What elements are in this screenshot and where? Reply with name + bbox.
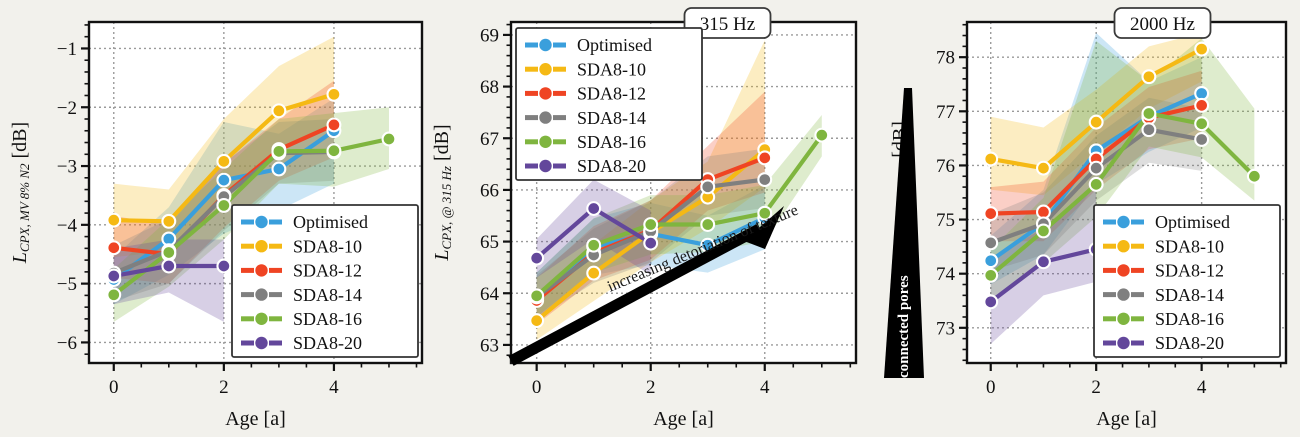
legend: OptimisedSDA8-10SDA8-12SDA8-14SDA8-16SDA… [1094,205,1280,357]
legend-label: SDA8-12 [293,261,362,281]
y-tick-label: 64 [480,284,500,305]
x-axis-label: Age [a] [653,408,714,430]
data-point-sda8-12 [328,118,341,131]
y-tick-label: 66 [480,180,499,201]
chart-panel-3: 737475767778024Age [a]LCPX, @ 2000 Hz [d… [860,0,1300,437]
data-point-sda8-16 [217,199,230,212]
legend-marker [1117,216,1129,228]
y-axis-label-unit: [dB] [9,122,31,164]
y-tick-label: 77 [936,102,955,123]
data-point-sda8-16 [530,289,543,302]
data-point-sda8-16 [815,129,828,142]
y-axis-label-subscript: CPX, MV 8% N2 [17,163,32,252]
legend-marker [1117,288,1129,300]
legend-label: SDA8-16 [1155,309,1224,329]
data-point-sda8-16 [383,133,396,146]
data-point-sda8-16 [1248,170,1261,183]
y-axis-label-main: L [432,250,453,262]
legend-marker [539,111,551,123]
legend-label: SDA8-20 [1155,333,1224,353]
y-tick-label: 67 [480,129,499,150]
data-point-sda8-10 [587,267,600,280]
y-tick-label: −1 [57,39,77,60]
data-point-sda8-16 [1037,225,1050,238]
data-point-sda8-20 [530,252,543,265]
y-tick-label: 76 [936,156,955,177]
data-point-sda8-16 [587,239,600,252]
y-tick-label: 73 [936,318,955,339]
data-point-sda8-10 [530,314,543,327]
data-point-sda8-20 [217,260,230,273]
chart-svg-panel-3: 737475767778024Age [a]LCPX, @ 2000 Hz [d… [860,0,1300,437]
data-point-optimised [984,254,997,267]
data-point-optimised [217,174,230,187]
x-tick-label: 2 [219,377,229,398]
legend-label: SDA8-10 [1155,236,1224,256]
legend-label: SDA8-14 [1155,285,1224,305]
legend-marker [539,87,551,99]
y-tick-label: 75 [936,210,955,231]
data-point-sda8-14 [1195,133,1208,146]
y-axis-label-subscript: CPX, @ 315 Hz [439,166,454,249]
data-point-sda8-20 [162,260,175,273]
y-tick-label: −6 [57,333,77,354]
y-tick-label: −5 [57,274,77,295]
figure-panels: −1−2−3−4−5−6024Age [a]LCPX, MV 8% N2 [dB… [0,0,1300,437]
data-point-sda8-14 [1143,123,1156,136]
y-tick-label: −2 [57,98,77,119]
legend: OptimisedSDA8-10SDA8-12SDA8-14SDA8-16SDA… [232,205,418,357]
legend-label: SDA8-14 [293,285,362,305]
data-point-sda8-16 [984,269,997,282]
panel-title: 2000 Hz [1115,8,1211,38]
legend-label: SDA8-20 [293,333,362,353]
legend-marker [255,288,267,300]
chart-panel-1: −1−2−3−4−5−6024Age [a]LCPX, MV 8% N2 [dB… [0,0,436,437]
data-point-sda8-10 [328,88,341,101]
data-point-sda8-14 [1090,162,1103,175]
legend-marker [1117,264,1129,276]
y-axis-label-unit: [dB] [432,124,453,166]
data-point-sda8-12 [984,207,997,220]
data-point-sda8-16 [162,246,175,259]
data-point-sda8-10 [1090,116,1103,129]
y-tick-label: 78 [936,48,955,69]
x-tick-label: 2 [1091,377,1101,398]
legend-marker [255,337,267,349]
legend-label: SDA8-12 [1155,261,1224,281]
data-point-sda8-12 [107,241,120,254]
y-tick-label: −4 [57,215,78,236]
data-point-sda8-16 [328,144,341,157]
data-point-sda8-10 [217,155,230,168]
y-tick-label: 74 [936,264,956,285]
data-point-sda8-20 [107,270,120,283]
legend-marker [539,39,551,51]
data-point-sda8-16 [1090,178,1103,191]
legend-label: SDA8-20 [577,156,646,176]
chart-svg-panel-2: 63646566676869024Age [a]LCPX, @ 315 Hz [… [432,0,864,437]
data-point-sda8-14 [758,173,771,186]
x-axis-label: Age [a] [225,408,286,430]
legend-marker [539,63,551,75]
x-tick-label: 4 [329,377,339,398]
data-point-sda8-20 [984,295,997,308]
legend: OptimisedSDA8-10SDA8-12SDA8-14SDA8-16SDA… [516,28,702,180]
legend-marker [255,264,267,276]
data-point-sda8-10 [272,104,285,117]
legend-marker [255,240,267,252]
data-point-sda8-16 [1195,117,1208,130]
chart-panel-2: 63646566676869024Age [a]LCPX, @ 315 Hz [… [432,0,864,437]
legend-label: SDA8-14 [577,108,646,128]
data-point-sda8-14 [701,180,714,193]
legend-marker [1117,337,1129,349]
data-point-optimised [272,163,285,176]
data-point-sda8-20 [1037,255,1050,268]
legend-label: Optimised [293,212,368,232]
x-tick-label: 4 [1197,377,1207,398]
data-point-sda8-10 [1195,43,1208,56]
y-tick-label: −3 [57,157,77,178]
y-tick-label: 69 [480,25,499,46]
data-point-sda8-20 [644,237,657,250]
x-axis-label: Age [a] [1096,408,1157,430]
legend-label: SDA8-12 [577,84,646,104]
data-point-sda8-10 [1037,162,1050,175]
data-point-sda8-10 [984,153,997,166]
y-tick-label: 63 [480,335,499,356]
triangle-label: connected pores [896,275,912,378]
y-axis-label-main: L [9,252,31,264]
data-point-sda8-10 [107,214,120,227]
data-point-sda8-16 [272,145,285,158]
panel-title-label: 315 Hz [700,14,755,35]
data-point-sda8-16 [1143,107,1156,120]
legend-marker [1117,240,1129,252]
data-point-sda8-16 [107,288,120,301]
data-point-sda8-10 [162,215,175,228]
panel-title-label: 2000 Hz [1130,14,1195,35]
x-tick-label: 0 [986,377,996,398]
data-point-sda8-12 [1195,99,1208,112]
legend-label: Optimised [577,35,652,55]
data-point-sda8-10 [1143,70,1156,83]
legend-marker [539,136,551,148]
legend-label: SDA8-16 [577,132,646,152]
legend-label: SDA8-10 [577,59,646,79]
y-axis-label: LCPX, @ 315 Hz [dB] [432,124,454,261]
data-point-sda8-20 [587,202,600,215]
x-tick-label: 0 [532,377,542,398]
x-tick-label: 2 [646,377,656,398]
data-point-sda8-16 [644,218,657,231]
legend-marker [255,216,267,228]
legend-marker [1117,313,1129,325]
chart-svg-panel-1: −1−2−3−4−5−6024Age [a]LCPX, MV 8% N2 [dB… [0,0,436,437]
legend-marker [255,313,267,325]
legend-label: Optimised [1155,212,1230,232]
x-tick-label: 4 [760,377,770,398]
legend-label: SDA8-10 [293,236,362,256]
legend-marker [539,160,551,172]
x-tick-label: 0 [109,377,119,398]
y-tick-label: 68 [480,77,499,98]
y-tick-label: 65 [480,232,499,253]
legend-label: SDA8-16 [293,309,362,329]
data-point-sda8-14 [984,236,997,249]
data-point-sda8-12 [758,151,771,164]
data-point-sda8-16 [701,218,714,231]
y-axis-label: LCPX, MV 8% N2 [dB] [9,122,32,264]
